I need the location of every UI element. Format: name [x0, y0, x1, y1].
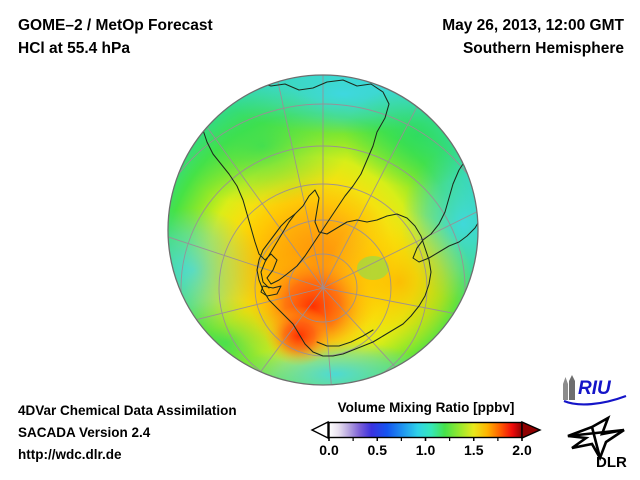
footer-text-block: 4DVar Chemical Data Assimilation SACADA …: [18, 400, 237, 466]
colorbar: Volume Mixing Ratio [ppbv] 0.00.51.01.52…: [310, 400, 542, 462]
colorbar-tick-label: 0.5: [368, 442, 387, 458]
colorbar-high-cap-icon: [522, 422, 540, 438]
riu-logo-svg: RIU: [558, 374, 630, 408]
coastline-australia: [443, 338, 479, 370]
dlr-swept-mark-icon: [568, 418, 624, 458]
forecast-map-figure: GOME–2 / MetOp Forecast HCl at 55.4 hPa …: [0, 0, 640, 480]
dlr-logo-svg: DLR: [562, 414, 632, 470]
riu-logo: RIU: [558, 374, 630, 413]
species-level-subtitle: HCl at 55.4 hPa: [18, 37, 213, 60]
colorbar-gradient: [329, 423, 522, 438]
riu-wordmark: RIU: [578, 378, 612, 399]
colorbar-tick-label: 1.5: [464, 442, 483, 458]
colorbar-gradient-svg: [310, 419, 542, 441]
header-right-block: May 26, 2013, 12:00 GMT Southern Hemisph…: [442, 14, 624, 60]
valid-datetime: May 26, 2013, 12:00 GMT: [442, 14, 624, 37]
colorbar-low-cap-icon: [312, 422, 328, 438]
coastline-new-zealand: [377, 374, 395, 386]
footer-url: http://wdc.dlr.de: [18, 444, 237, 466]
colorbar-tick-label: 2.0: [512, 442, 531, 458]
riu-tower-icon: [563, 375, 575, 400]
colorbar-tick-label: 0.0: [319, 442, 338, 458]
header-left-block: GOME–2 / MetOp Forecast HCl at 55.4 hPa: [18, 14, 213, 60]
footer-method: 4DVar Chemical Data Assimilation: [18, 400, 237, 422]
dlr-logo: DLR: [562, 414, 632, 475]
cool-pocket-east: [357, 256, 389, 280]
product-title: GOME–2 / MetOp Forecast: [18, 14, 213, 37]
colorbar-bar-row: [310, 419, 542, 441]
orthographic-projection-svg: [167, 74, 479, 386]
footer-version: SACADA Version 2.4: [18, 422, 237, 444]
dlr-wordmark: DLR: [596, 454, 627, 470]
hemisphere-label: Southern Hemisphere: [442, 37, 624, 60]
colorbar-tick-label: 1.0: [416, 442, 435, 458]
colorbar-tick-labels: 0.00.51.01.52.0: [310, 442, 542, 462]
globe-map: [167, 74, 479, 386]
colorbar-title: Volume Mixing Ratio [ppbv]: [310, 400, 542, 415]
